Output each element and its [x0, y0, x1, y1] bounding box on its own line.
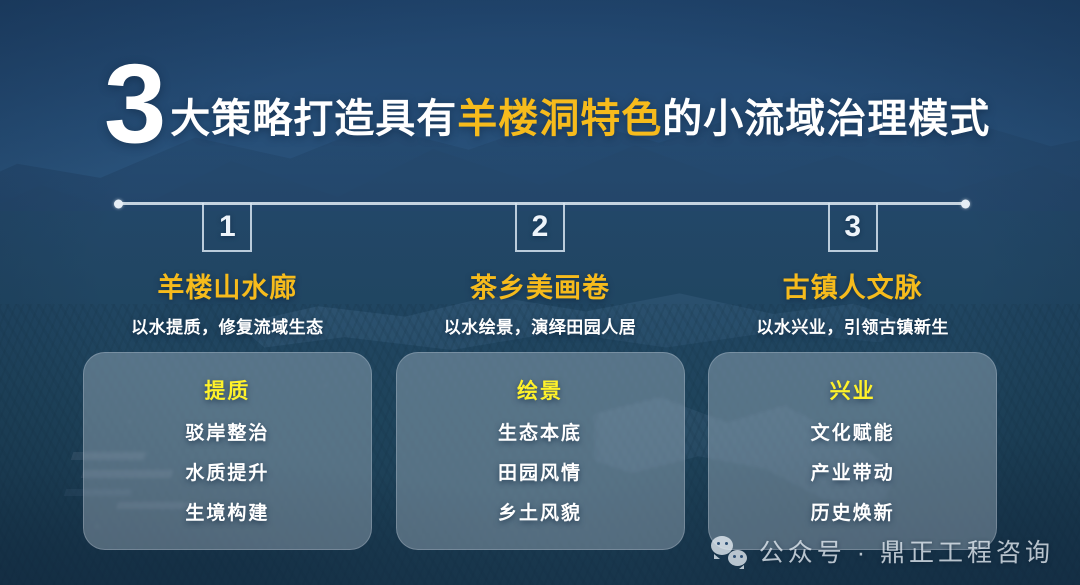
- strategy-title-3: 古镇人文脉: [783, 266, 923, 305]
- wechat-icon: [711, 536, 747, 566]
- title-highlight: 羊楼洞特色: [457, 97, 662, 141]
- strategy-card-2: 绘景 生态本底 田园风情 乡土风貌: [396, 352, 685, 550]
- strategy-subtitle-1: 以水提质，修复流域生态: [131, 313, 324, 338]
- card-heading-1: 提质: [204, 375, 250, 405]
- strategy-column-3: 3 古镇人文脉 以水兴业，引领古镇新生 兴业 文化赋能 产业带动 历史焕新: [705, 203, 1000, 550]
- strategy-subtitle-2: 以水绘景，演绎田园人居: [444, 313, 637, 338]
- page-title: 3 大策略打造具有羊楼洞特色的小流域治理模式: [104, 58, 990, 150]
- card-item: 水质提升: [185, 458, 269, 485]
- title-suffix: 的小流域治理模式: [662, 97, 990, 141]
- strategy-column-1: 1 羊楼山水廊 以水提质，修复流域生态 提质 驳岸整治 水质提升 生境构建: [80, 203, 375, 550]
- strategy-number-badge-2: 2: [515, 203, 565, 252]
- slide-root: 3 大策略打造具有羊楼洞特色的小流域治理模式 1 羊楼山水廊 以水提质，修复流域…: [0, 0, 1080, 585]
- card-item: 驳岸整治: [185, 418, 269, 445]
- card-item: 生态本底: [498, 418, 582, 445]
- strategy-title-2: 茶乡美画卷: [470, 266, 610, 305]
- title-text: 大策略打造具有羊楼洞特色的小流域治理模式: [170, 86, 990, 150]
- card-item: 产业带动: [811, 458, 895, 485]
- strategy-number-badge-3: 3: [828, 203, 878, 252]
- strategy-columns: 1 羊楼山水廊 以水提质，修复流域生态 提质 驳岸整治 水质提升 生境构建 2 …: [80, 203, 1000, 550]
- card-item: 田园风情: [498, 458, 582, 485]
- card-item: 历史焕新: [811, 498, 895, 525]
- card-heading-3: 兴业: [830, 375, 876, 405]
- strategy-column-2: 2 茶乡美画卷 以水绘景，演绎田园人居 绘景 生态本底 田园风情 乡土风貌: [393, 203, 688, 550]
- card-item: 文化赋能: [811, 418, 895, 445]
- slide-content: 3 大策略打造具有羊楼洞特色的小流域治理模式 1 羊楼山水廊 以水提质，修复流域…: [0, 0, 1080, 585]
- strategy-number-badge-1: 1: [202, 203, 252, 252]
- strategy-card-3: 兴业 文化赋能 产业带动 历史焕新: [708, 352, 997, 550]
- card-item: 乡土风貌: [498, 498, 582, 525]
- watermark: 公众号 · 鼎正工程咨询: [711, 533, 1054, 569]
- strategy-title-1: 羊楼山水廊: [157, 266, 297, 305]
- title-prefix: 大策略打造具有: [170, 97, 457, 141]
- card-heading-2: 绘景: [517, 375, 563, 405]
- strategy-subtitle-3: 以水兴业，引领古镇新生: [756, 313, 949, 338]
- title-big-number: 3: [104, 58, 164, 150]
- watermark-text: 公众号 · 鼎正工程咨询: [759, 533, 1054, 569]
- strategy-card-1: 提质 驳岸整治 水质提升 生境构建: [83, 352, 372, 550]
- card-item: 生境构建: [185, 498, 269, 525]
